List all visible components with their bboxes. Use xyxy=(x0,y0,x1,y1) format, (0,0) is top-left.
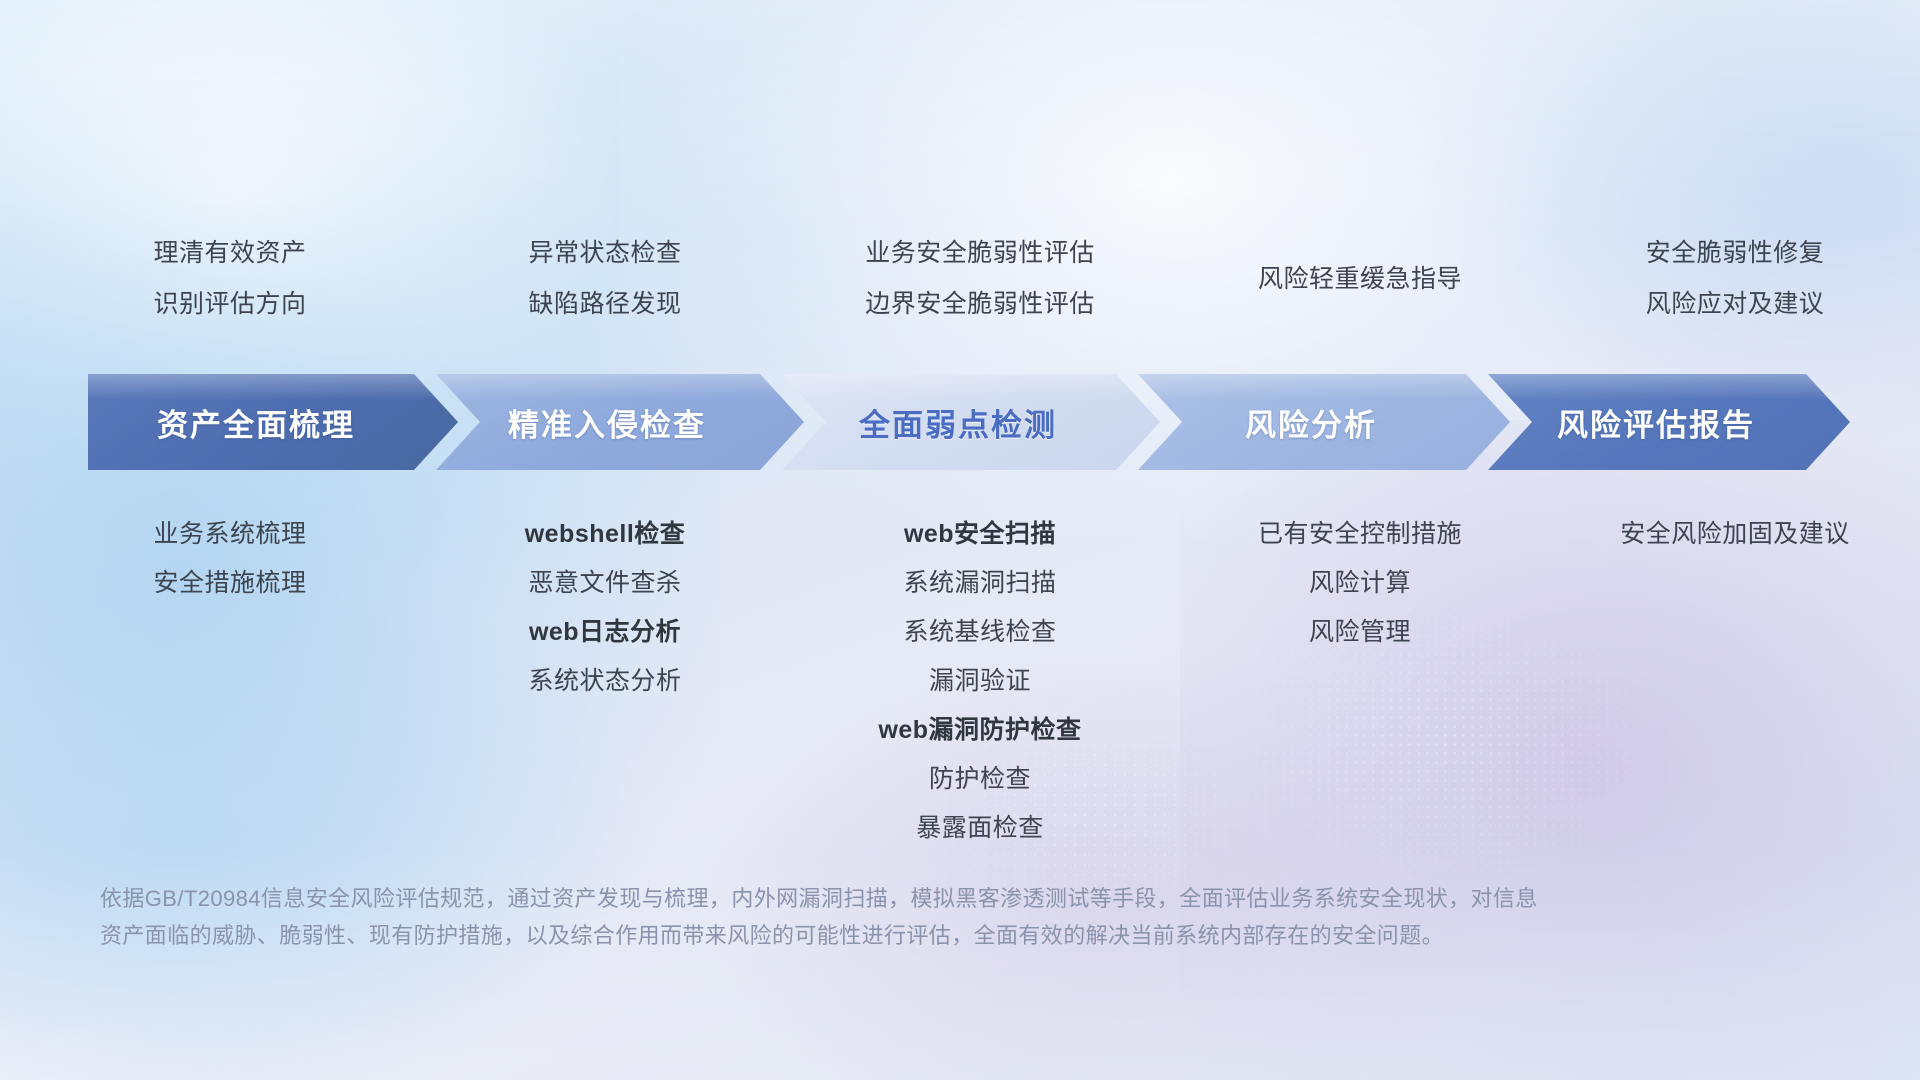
process-arrow-band: 资产全面梳理 精准入侵检查 全面弱点检测 风险分析 风险评估报告 xyxy=(88,374,1850,470)
list-item: 恶意文件查杀 xyxy=(420,559,790,608)
stage-arrow-3-gloss xyxy=(782,374,1160,400)
top-note: 边界安全脆弱性评估 xyxy=(790,279,1170,330)
list-item: 安全措施梳理 xyxy=(40,559,420,608)
list-item: 风险管理 xyxy=(1170,608,1550,657)
list-item: 安全风险加固及建议 xyxy=(1550,510,1920,559)
stage-arrow-4-label: 风险分析 xyxy=(1138,400,1510,445)
list-item: web安全扫描 xyxy=(790,510,1170,559)
footer-description: 依据GB/T20984信息安全风险评估规范，通过资产发现与梳理，内外网漏洞扫描，… xyxy=(100,880,1660,954)
footer-line-1: 依据GB/T20984信息安全风险评估规范，通过资产发现与梳理，内外网漏洞扫描，… xyxy=(100,880,1660,917)
top-notes-stage-2: 异常状态检查 缺陷路径发现 xyxy=(420,228,790,330)
stage-arrow-2-gloss xyxy=(436,374,804,400)
top-note: 风险轻重缓急指导 xyxy=(1170,254,1550,305)
stage-items-4: 已有安全控制措施 风险计算 风险管理 xyxy=(1170,510,1550,657)
infographic-stage: 理清有效资产 识别评估方向 异常状态检查 缺陷路径发现 业务安全脆弱性评估 边界… xyxy=(0,0,1920,1080)
list-item: 暴露面检查 xyxy=(790,804,1170,853)
top-note: 理清有效资产 xyxy=(40,228,420,279)
top-note: 安全脆弱性修复 xyxy=(1550,228,1920,279)
top-notes-stage-3: 业务安全脆弱性评估 边界安全脆弱性评估 xyxy=(790,228,1170,330)
top-note: 识别评估方向 xyxy=(40,279,420,330)
stage-arrow-1[interactable]: 资产全面梳理 xyxy=(88,374,458,470)
stage-arrow-5-label: 风险评估报告 xyxy=(1488,400,1850,445)
list-item: 漏洞验证 xyxy=(790,657,1170,706)
stage-arrow-2-label: 精准入侵检查 xyxy=(436,400,804,445)
top-notes-stage-4: 风险轻重缓急指导 xyxy=(1170,228,1550,330)
top-note: 业务安全脆弱性评估 xyxy=(790,228,1170,279)
top-note: 缺陷路径发现 xyxy=(420,279,790,330)
stage-arrow-3[interactable]: 全面弱点检测 xyxy=(782,374,1160,470)
top-note: 风险应对及建议 xyxy=(1550,279,1920,330)
list-item: web漏洞防护检查 xyxy=(790,706,1170,755)
stage-arrow-3-label: 全面弱点检测 xyxy=(782,400,1160,445)
stage-arrow-5[interactable]: 风险评估报告 xyxy=(1488,374,1850,470)
stage-items-2: webshell检查 恶意文件查杀 web日志分析 系统状态分析 xyxy=(420,510,790,706)
footer-line-2: 资产面临的威胁、脆弱性、现有防护措施，以及综合作用而带来风险的可能性进行评估，全… xyxy=(100,917,1660,954)
stage-items-5: 安全风险加固及建议 xyxy=(1550,510,1920,559)
list-item: 系统基线检查 xyxy=(790,608,1170,657)
bottom-lists-row: 业务系统梳理 安全措施梳理 webshell检查 恶意文件查杀 web日志分析 … xyxy=(0,510,1920,853)
stage-arrow-5-gloss xyxy=(1488,374,1850,400)
stage-arrow-1-gloss xyxy=(88,374,458,400)
list-item: 业务系统梳理 xyxy=(40,510,420,559)
top-notes-row: 理清有效资产 识别评估方向 异常状态检查 缺陷路径发现 业务安全脆弱性评估 边界… xyxy=(0,228,1920,330)
stage-items-1: 业务系统梳理 安全措施梳理 xyxy=(40,510,420,608)
top-note: 异常状态检查 xyxy=(420,228,790,279)
list-item: 系统状态分析 xyxy=(420,657,790,706)
stage-arrow-4-gloss xyxy=(1138,374,1510,400)
top-notes-stage-1: 理清有效资产 识别评估方向 xyxy=(40,228,420,330)
stage-items-3: web安全扫描 系统漏洞扫描 系统基线检查 漏洞验证 web漏洞防护检查 防护检… xyxy=(790,510,1170,853)
stage-arrow-1-label: 资产全面梳理 xyxy=(88,400,458,445)
list-item: 系统漏洞扫描 xyxy=(790,559,1170,608)
list-item: 已有安全控制措施 xyxy=(1170,510,1550,559)
list-item: webshell检查 xyxy=(420,510,790,559)
list-item: web日志分析 xyxy=(420,608,790,657)
list-item: 防护检查 xyxy=(790,755,1170,804)
top-notes-stage-5: 安全脆弱性修复 风险应对及建议 xyxy=(1550,228,1920,330)
stage-arrow-2[interactable]: 精准入侵检查 xyxy=(436,374,804,470)
stage-arrow-4[interactable]: 风险分析 xyxy=(1138,374,1510,470)
list-item: 风险计算 xyxy=(1170,559,1550,608)
